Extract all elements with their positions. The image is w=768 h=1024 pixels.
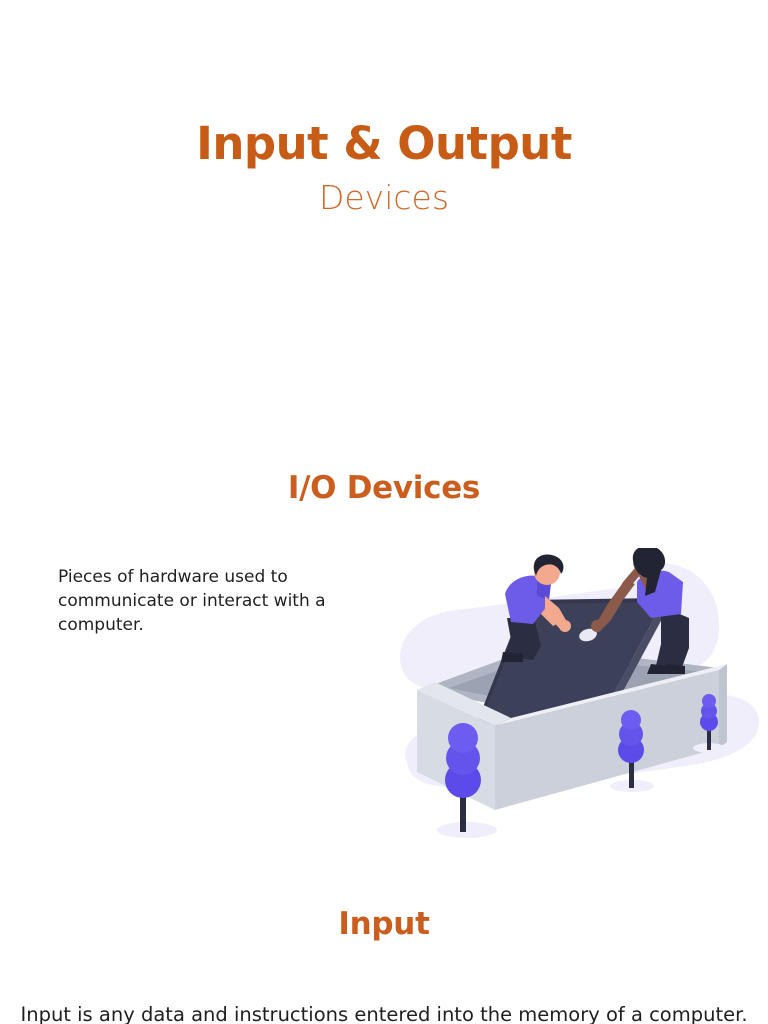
io-devices-body-text: Pieces of hardware used to communicate o… <box>58 565 373 637</box>
input-heading: Input <box>0 906 768 942</box>
io-devices-illustration <box>389 548 768 854</box>
io-devices-heading: I/O Devices <box>0 470 768 506</box>
tree-foliage-medium-top <box>621 710 641 730</box>
tree-foliage-small-top <box>702 694 716 708</box>
input-body-text: Input is any data and instructions enter… <box>0 1002 768 1024</box>
person-left-hand <box>559 620 571 632</box>
tree-shadow-large <box>437 822 497 838</box>
page-title: Input & Output <box>0 118 768 170</box>
people-lifting-device-illustration-svg <box>389 548 768 854</box>
page-subtitle: Devices <box>0 178 768 218</box>
title-block: Input & Output Devices <box>0 118 768 217</box>
tree-foliage-large-top <box>448 723 478 753</box>
person-right-hand <box>591 620 603 632</box>
box-right-end-face <box>719 664 727 748</box>
slide-page: Input & Output Devices I/O Devices Piece… <box>0 0 768 1024</box>
